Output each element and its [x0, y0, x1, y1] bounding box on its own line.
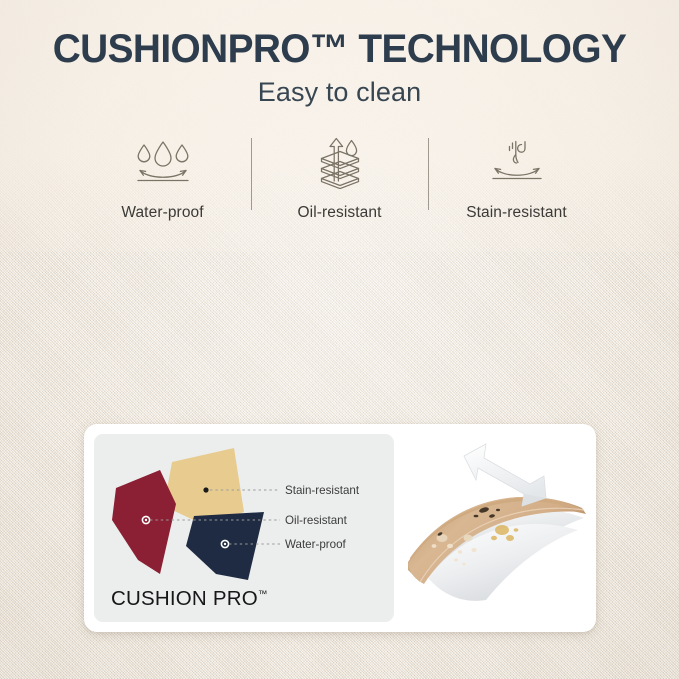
feature-divider-1 — [251, 138, 252, 210]
cushion-pro-card: Stain-resistant Oil-resistant Water-proo… — [84, 424, 596, 632]
feature-divider-2 — [428, 138, 429, 210]
callout-label-oil: Oil-resistant — [285, 514, 348, 527]
navy-wedge-shape — [186, 512, 264, 580]
feature-oil-resistant: Oil-resistant — [252, 132, 428, 222]
cushion-pro-wordmark: CUSHION PRO™ — [111, 587, 267, 611]
callout-label-stain: Stain-resistant — [285, 484, 360, 497]
product-infographic: CUSHIONPRO™ TECHNOLOGY Easy to clean — [0, 0, 679, 679]
page-title: CUSHIONPRO™ TECHNOLOGY — [10, 28, 669, 71]
wordmark-trademark: ™ — [258, 589, 268, 600]
wordmark-text: CUSHION PRO — [111, 587, 258, 610]
feature-label: Stain-resistant — [466, 204, 567, 222]
feature-label: Water-proof — [121, 204, 203, 222]
page-subtitle: Easy to clean — [0, 77, 679, 108]
feature-label: Oil-resistant — [298, 204, 382, 222]
callout-dot-water-center — [224, 543, 226, 545]
splash-repel-surface-icon — [485, 132, 549, 190]
stacked-layers-droplet-icon — [308, 132, 372, 190]
product-photo — [398, 434, 586, 622]
feature-row: Water-proof — [64, 132, 615, 222]
feature-stain-resistant: Stain-resistant — [429, 132, 605, 222]
cushion-pro-logo-panel: Stain-resistant Oil-resistant Water-proo… — [94, 434, 394, 622]
callout-label-water: Water-proof — [285, 538, 347, 551]
callout-dot-oil-center — [145, 519, 147, 521]
header: CUSHIONPRO™ TECHNOLOGY Easy to clean — [0, 28, 679, 108]
water-droplets-repel-icon — [131, 132, 195, 190]
feature-water-proof: Water-proof — [75, 132, 251, 222]
callout-dot-stain — [203, 487, 208, 492]
